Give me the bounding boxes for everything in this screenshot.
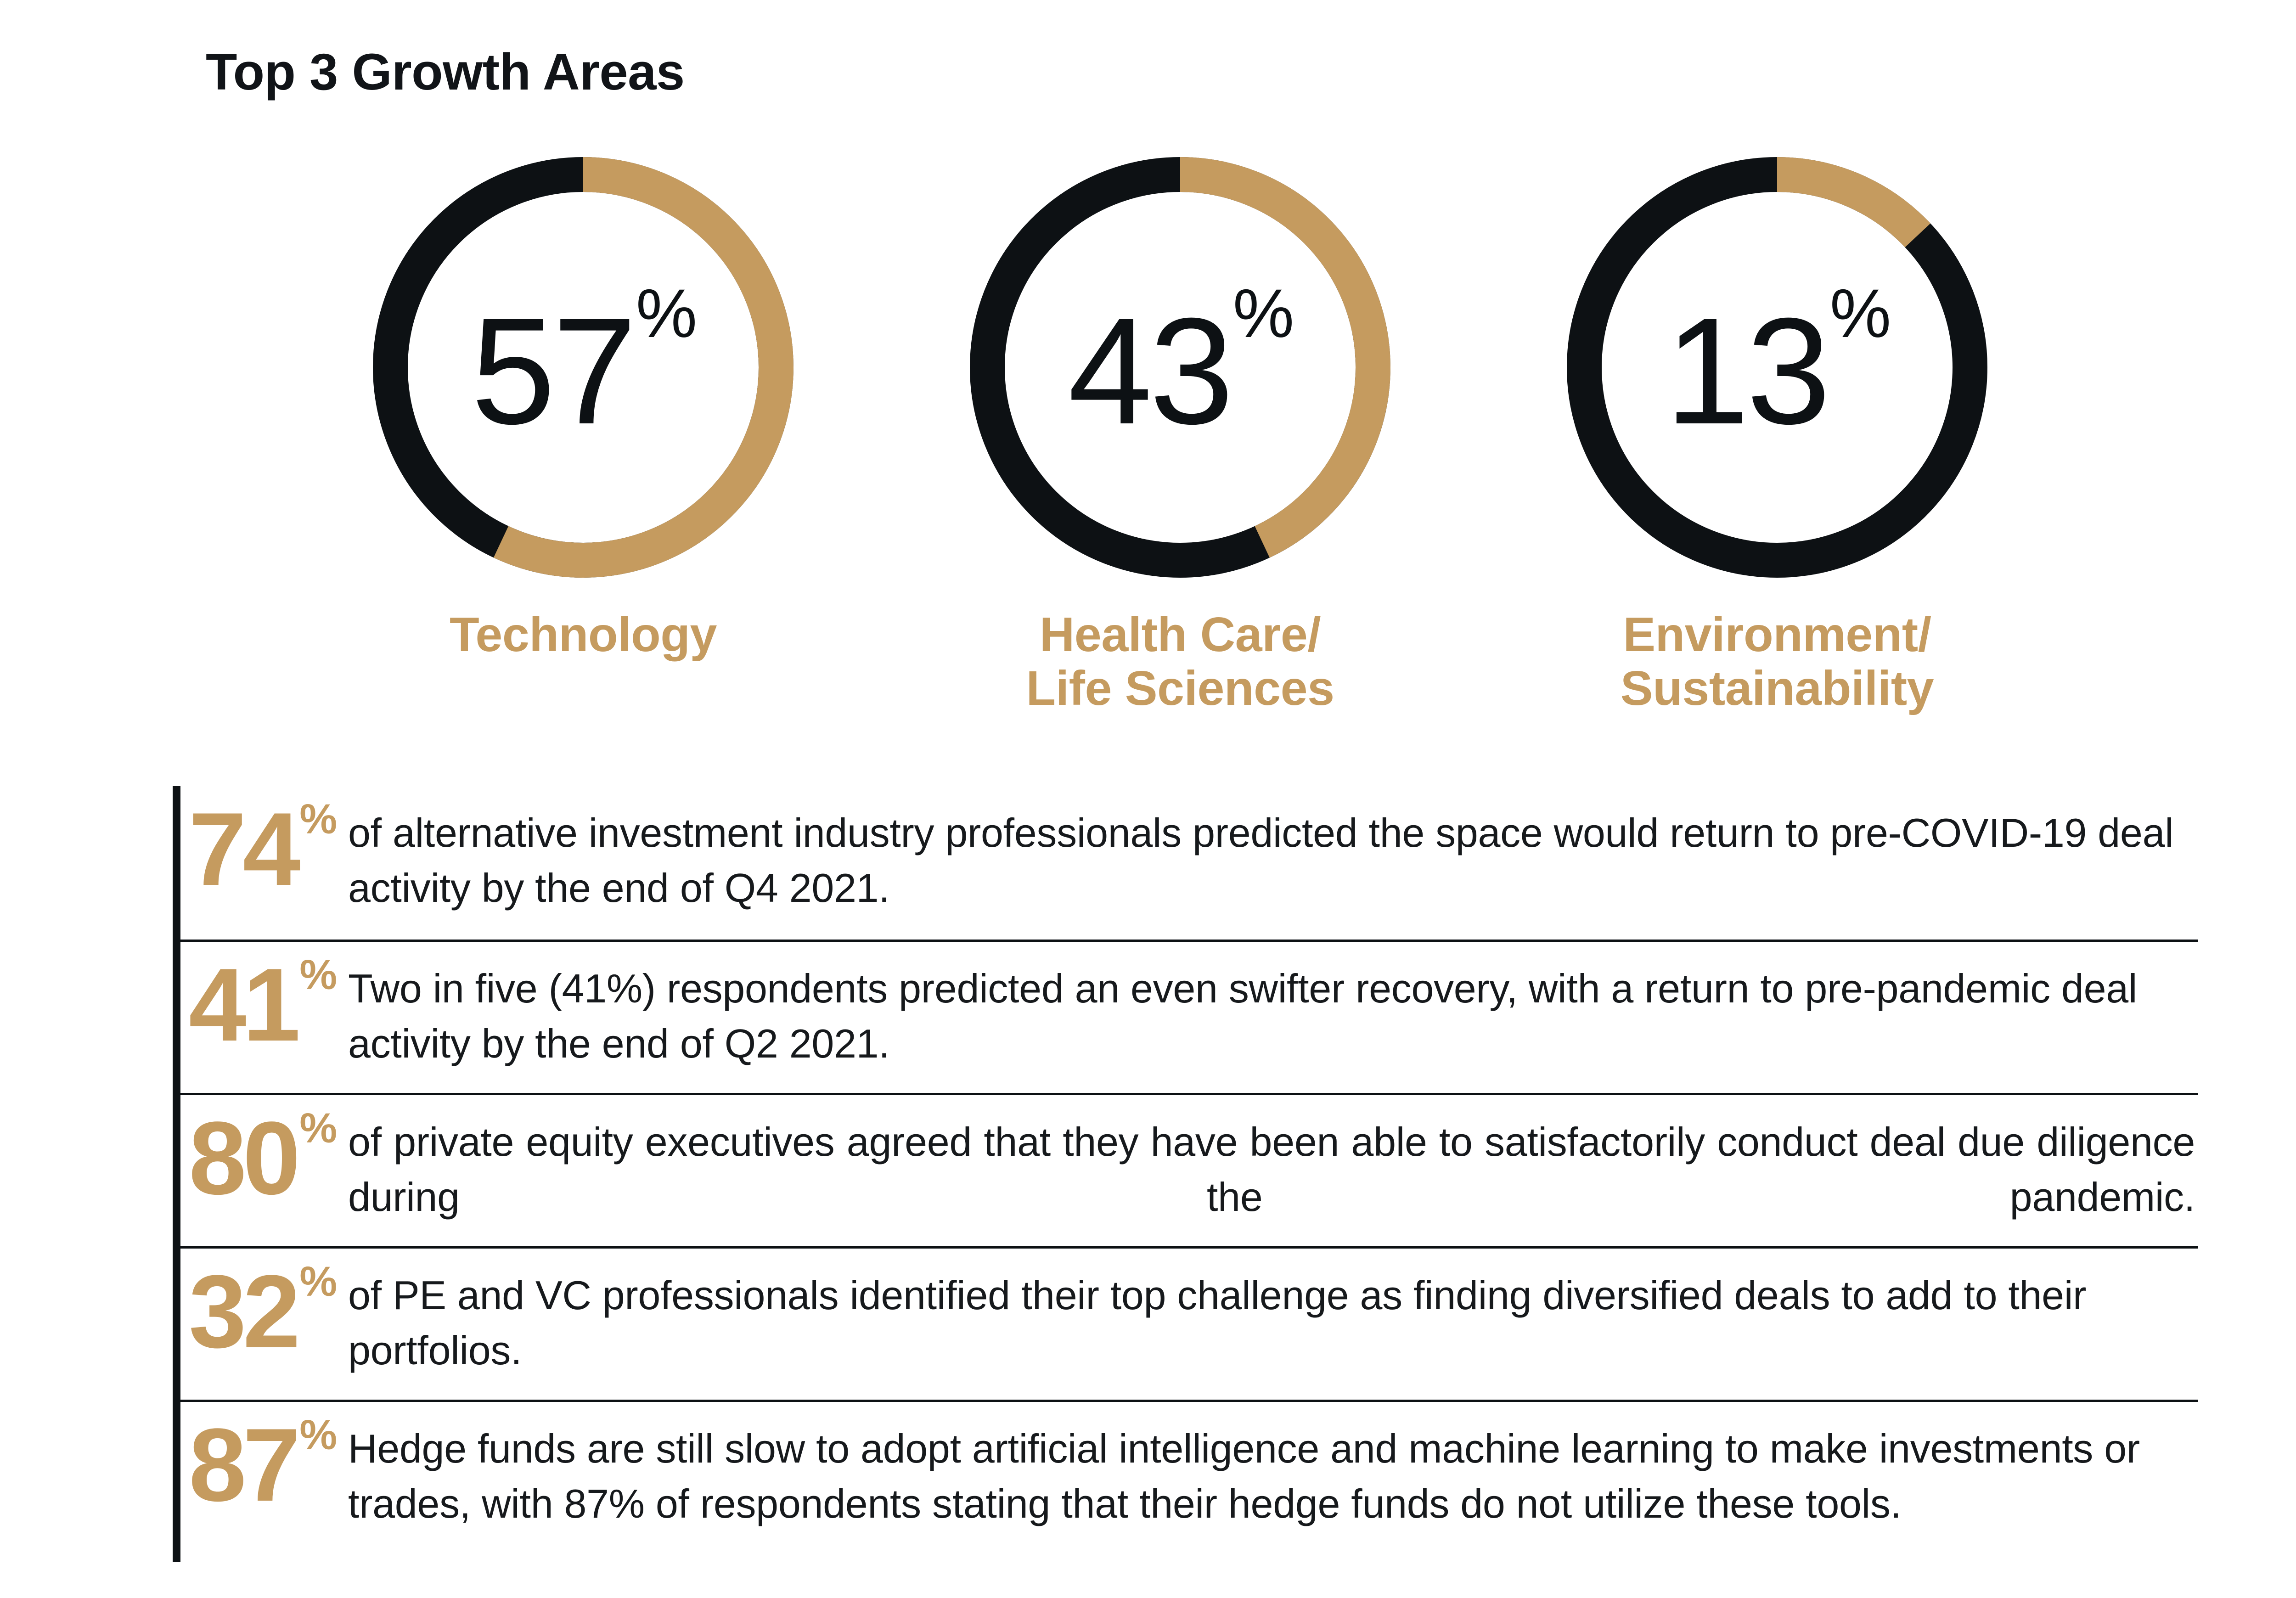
donut-percent-symbol: % [1830,279,1891,348]
statistics-rows: 74% of alternative investment industry p… [180,786,2198,1553]
statistic-description: of PE and VC professionals identified th… [348,1260,2198,1378]
statistic-percent-symbol: % [299,1412,337,1458]
donut-label-health-care-life-sciences: Health Care/ Life Sciences [951,608,1410,715]
donut-value-number: 57 [471,295,634,447]
statistic-number: 87 [189,1407,297,1523]
donut-value-technology: 57% [354,138,813,597]
donut-chart-health-care-life-sciences: 43% Health Care/ Life Sciences [951,138,1410,715]
statistics-list: 74% of alternative investment industry p… [173,786,2198,1562]
statistic-percent-symbol: % [299,1258,337,1305]
donut-value-number: 43 [1068,295,1231,447]
donut-value-health-care-life-sciences: 43% [951,138,1410,597]
donut-chart-technology: 57% Technology [354,138,813,662]
donut-ring-technology: 57% [354,138,813,597]
statistic-figure: 80% [180,1106,348,1210]
donut-chart-group: 57% Technology 43% Health Care/ [0,138,2296,716]
statistic-percent-symbol: % [299,1105,337,1152]
donut-chart-environment-sustainability: 13% Environment/ Sustainability [1548,138,2007,715]
donut-ring-environment-sustainability: 13% [1548,138,2007,597]
page-title: Top 3 Growth Areas [206,42,685,101]
statistic-number: 32 [189,1253,297,1369]
statistic-row: 74% of alternative investment industry p… [180,786,2198,940]
donut-percent-symbol: % [636,279,697,348]
statistic-percent-symbol: % [299,951,337,998]
infographic-page: Top 3 Growth Areas 57% Technology [0,0,2296,1598]
statistic-description: of alternative investment industry profe… [348,797,2198,915]
statistic-number: 74 [189,791,297,907]
donut-value-environment-sustainability: 13% [1548,138,2007,597]
donut-label-line-1: Health Care/ [1040,608,1321,662]
donut-ring-health-care-life-sciences: 43% [951,138,1410,597]
statistic-row: 80% of private equity executives agreed … [180,1093,2198,1246]
donut-label-line-2: Sustainability [1548,662,2007,715]
vertical-rule [173,786,180,1562]
statistic-row: 41% Two in five (41%) respondents predic… [180,940,2198,1093]
donut-label-line-1: Technology [450,608,717,662]
statistic-row: 87% Hedge funds are still slow to adopt … [180,1400,2198,1553]
statistic-description: Two in five (41%) respondents predicted … [348,953,2198,1071]
statistic-number: 80 [189,1100,297,1216]
donut-value-number: 13 [1665,295,1828,447]
donut-label-technology: Technology [354,608,813,662]
statistic-figure: 41% [180,953,348,1057]
statistic-number: 41 [189,946,297,1063]
statistic-percent-symbol: % [299,796,337,843]
donut-label-line-2: Life Sciences [951,662,1410,715]
statistic-figure: 87% [180,1413,348,1517]
donut-percent-symbol: % [1233,279,1294,348]
statistic-figure: 74% [180,797,348,901]
statistic-description: Hedge funds are still slow to adopt arti… [348,1413,2198,1531]
donut-label-line-1: Environment/ [1623,608,1931,662]
statistic-row: 32% of PE and VC professionals identifie… [180,1246,2198,1400]
statistic-figure: 32% [180,1260,348,1363]
donut-label-environment-sustainability: Environment/ Sustainability [1548,608,2007,715]
